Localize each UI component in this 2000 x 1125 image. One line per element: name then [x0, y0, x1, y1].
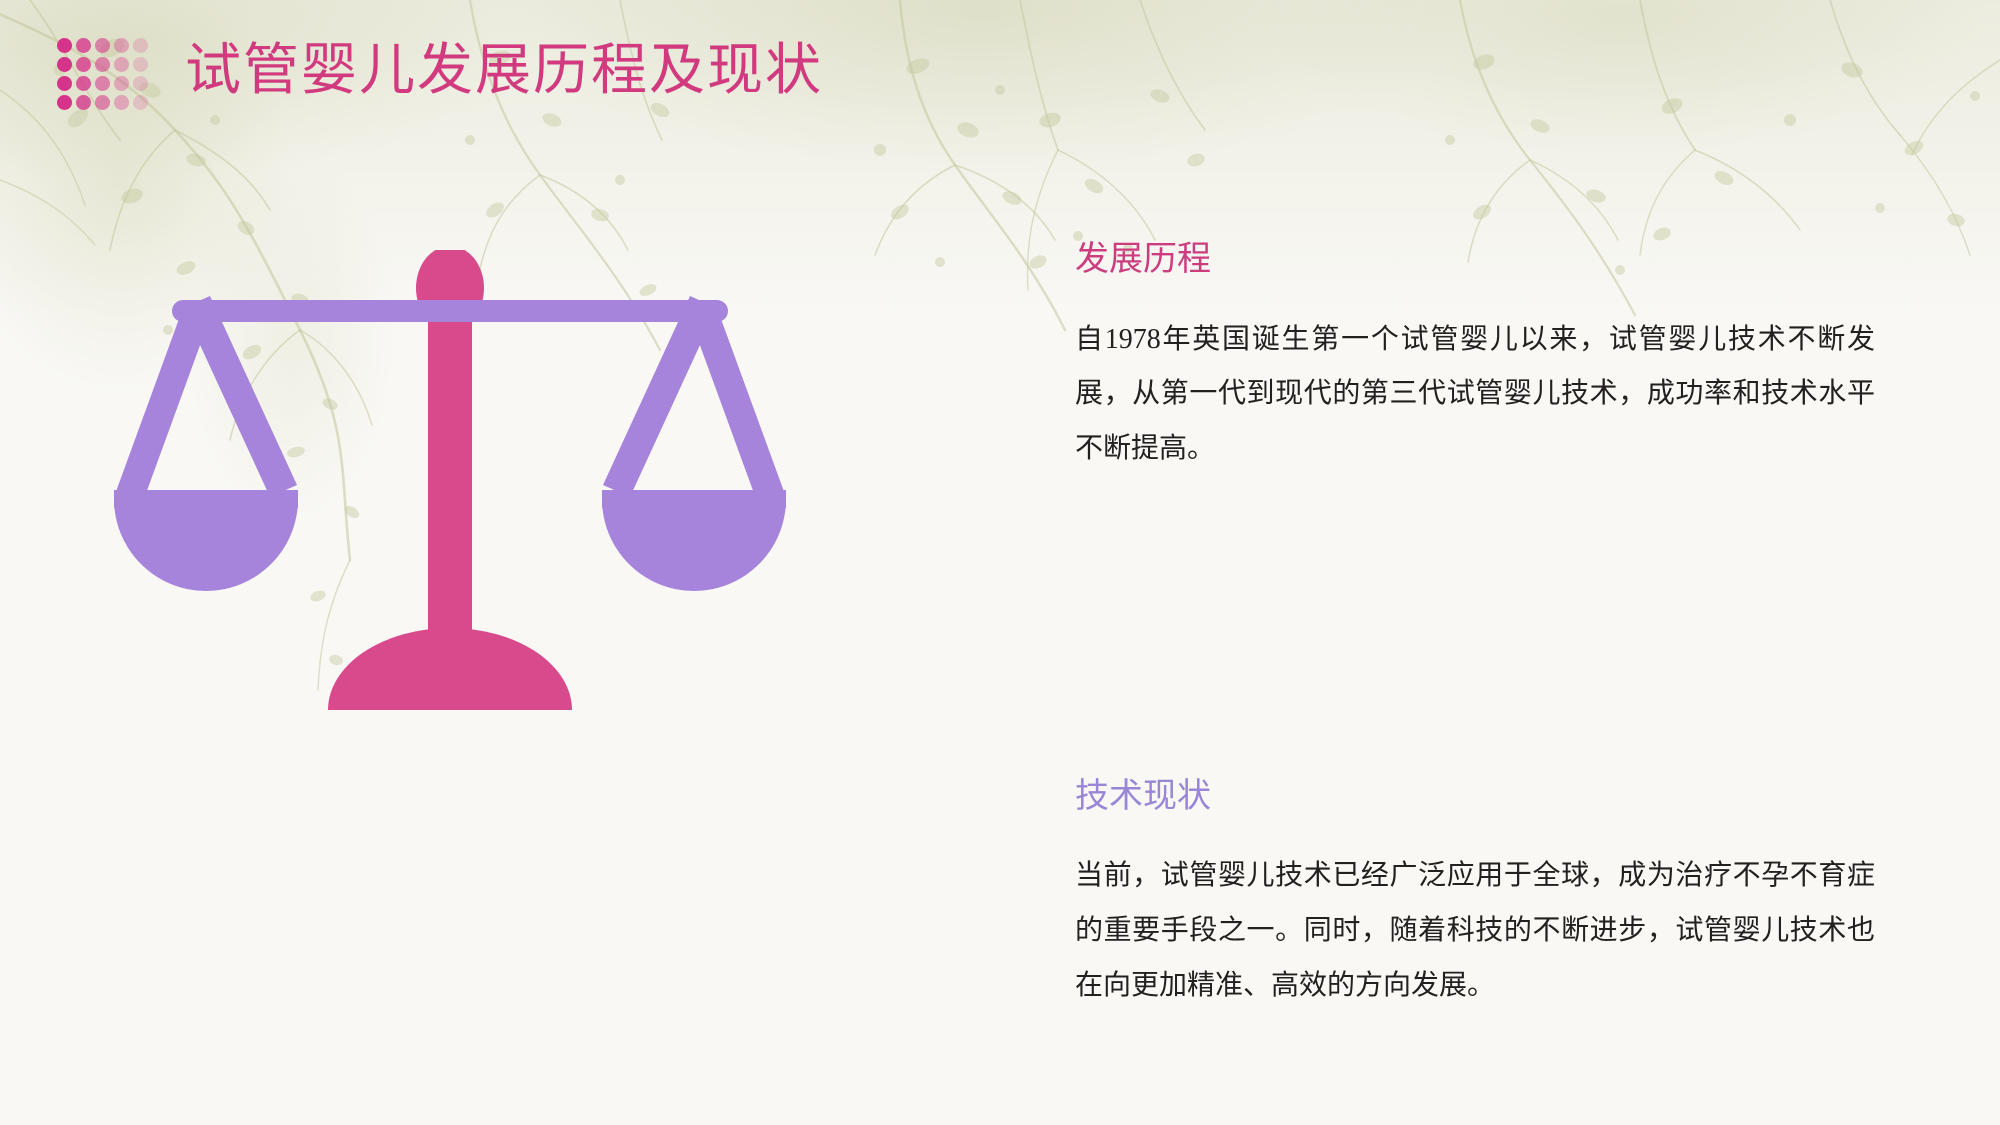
scale-base [328, 628, 572, 710]
dot-cell [93, 74, 112, 93]
dot-icon [76, 76, 91, 91]
dot-cell [131, 93, 150, 112]
dot-icon [76, 38, 91, 53]
scale-beam [172, 300, 728, 322]
dot-grid-decoration [55, 36, 150, 112]
slide-header: 试管婴儿发展历程及现状 [55, 30, 823, 112]
slide-canvas: 试管婴儿发展历程及现状 [0, 0, 2000, 1125]
dot-icon [76, 95, 91, 110]
dot-cell [74, 55, 93, 74]
dot-cell [74, 93, 93, 112]
dot-icon [133, 95, 148, 110]
dot-icon [76, 57, 91, 72]
section-heading-development-history: 发展历程 [1075, 240, 1955, 281]
scale-pan-left [114, 296, 298, 591]
dot-icon [114, 76, 129, 91]
dot-icon [57, 38, 72, 53]
dot-icon [57, 95, 72, 110]
dot-cell [93, 36, 112, 55]
dot-cell [112, 93, 131, 112]
section-heading-technology-status: 技术现状 [1075, 777, 1955, 818]
dot-cell [55, 55, 74, 74]
dot-cell [112, 74, 131, 93]
section-body-development-history: 自1978年英国诞生第一个试管婴儿以来，试管婴儿技术不断发展，从第一代到现代的第… [1075, 313, 1875, 477]
dot-cell [112, 55, 131, 74]
section-development-history: 发展历程 自1978年英国诞生第一个试管婴儿以来，试管婴儿技术不断发展，从第一代… [1075, 240, 1955, 477]
dot-icon [133, 38, 148, 53]
scale-post [428, 290, 472, 640]
dot-icon [95, 76, 110, 91]
dot-icon [114, 57, 129, 72]
dot-cell [131, 55, 150, 74]
dot-cell [131, 74, 150, 93]
dot-cell [93, 55, 112, 74]
dot-icon [95, 57, 110, 72]
dot-icon [114, 38, 129, 53]
dot-cell [112, 36, 131, 55]
dot-icon [57, 57, 72, 72]
balance-scale-illustration [110, 250, 790, 710]
dot-cell [55, 36, 74, 55]
page-title: 试管婴儿发展历程及现状 [185, 43, 823, 99]
dot-icon [95, 95, 110, 110]
dot-icon [133, 57, 148, 72]
dot-cell [74, 74, 93, 93]
section-body-technology-status: 当前，试管婴儿技术已经广泛应用于全球，成为治疗不孕不育症的重要手段之一。同时，随… [1075, 849, 1875, 1013]
dot-icon [95, 38, 110, 53]
dot-icon [57, 76, 72, 91]
section-technology-status: 技术现状 当前，试管婴儿技术已经广泛应用于全球，成为治疗不孕不育症的重要手段之一… [1075, 777, 1955, 1014]
dot-icon [133, 76, 148, 91]
content-column: 发展历程 自1978年英国诞生第一个试管婴儿以来，试管婴儿技术不断发展，从第一代… [1075, 240, 1955, 1013]
dot-cell [93, 93, 112, 112]
dot-cell [55, 93, 74, 112]
dot-cell [74, 36, 93, 55]
dot-cell [55, 74, 74, 93]
scale-pan-right [602, 296, 786, 591]
balance-scale-icon [110, 250, 790, 710]
dot-icon [114, 95, 129, 110]
dot-cell [131, 36, 150, 55]
